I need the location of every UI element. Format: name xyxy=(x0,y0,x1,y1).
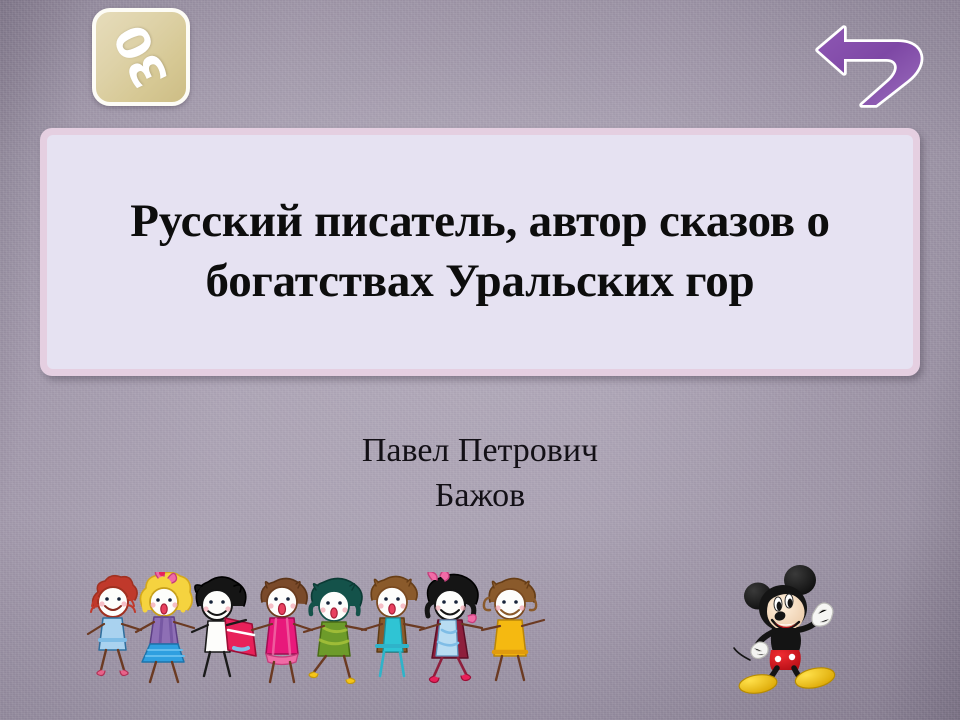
score-badge[interactable]: 30 xyxy=(92,8,190,106)
answer-text: Павел Петрович Бажов xyxy=(0,428,960,518)
child-figure-6 xyxy=(362,576,424,676)
mickey-mouse-illustration xyxy=(732,560,852,696)
question-text: Русский писатель, автор сказов о богатст… xyxy=(73,192,887,311)
return-arrow-button[interactable] xyxy=(812,18,930,114)
question-panel-inner: Русский писатель, автор сказов о богатст… xyxy=(47,135,913,369)
quiz-slide: 30 Русский писатель, автор сказов о бога… xyxy=(0,0,960,720)
question-panel: Русский писатель, автор сказов о богатст… xyxy=(40,128,920,376)
score-badge-value: 30 xyxy=(107,19,175,95)
child-figure-2 xyxy=(136,572,194,682)
child-figure-3 xyxy=(192,577,256,676)
children-holding-hands-icon xyxy=(86,572,548,684)
children-holding-hands-illustration xyxy=(86,572,548,684)
child-figure-8 xyxy=(482,578,544,680)
mickey-mouse-icon xyxy=(732,560,852,696)
child-figure-4 xyxy=(252,578,312,682)
return-arrow-icon xyxy=(812,18,930,114)
child-figure-5 xyxy=(304,578,366,683)
child-figure-7 xyxy=(420,572,482,683)
child-figure-1 xyxy=(88,576,141,676)
